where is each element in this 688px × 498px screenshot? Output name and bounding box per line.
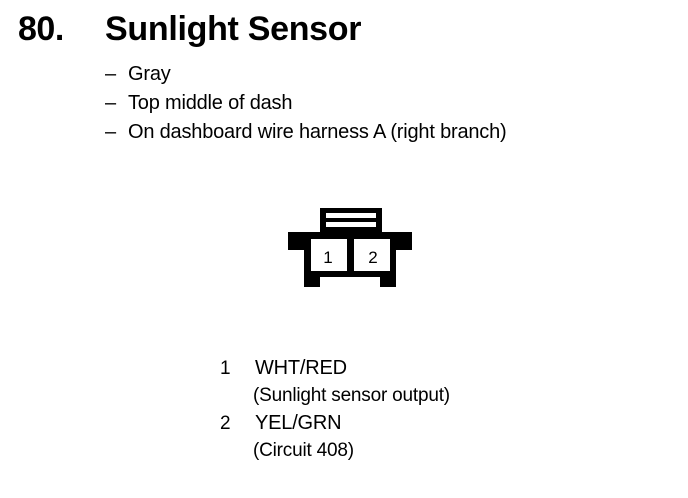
page-header: 80. Sunlight Sensor bbox=[0, 8, 688, 54]
legend-description: (Circuit 408) bbox=[253, 437, 673, 465]
pin-legend: 1 WHT/RED (Sunlight sensor output) 2 YEL… bbox=[220, 355, 640, 465]
legend-entry: 2 YEL/GRN (Circuit 408) bbox=[220, 410, 640, 465]
pin-number-2: 2 bbox=[368, 248, 377, 267]
page-title: Sunlight Sensor bbox=[105, 8, 361, 50]
dash-icon: – bbox=[105, 89, 116, 118]
dash-icon: – bbox=[105, 60, 116, 89]
locking-tab-shape bbox=[320, 208, 382, 234]
tab-slot-lower bbox=[326, 222, 376, 227]
list-item: – Top middle of dash bbox=[105, 89, 665, 118]
connector-outline-graphic: 1 2 bbox=[284, 203, 416, 301]
list-item-label: Top middle of dash bbox=[128, 89, 292, 118]
connector-body-shape bbox=[288, 232, 412, 287]
legend-pin-number: 2 bbox=[220, 410, 242, 437]
legend-entry: 1 WHT/RED (Sunlight sensor output) bbox=[220, 355, 640, 410]
tab-slot-upper bbox=[326, 213, 376, 218]
detail-list: – Gray – Top middle of dash – On dashboa… bbox=[105, 60, 665, 147]
list-item-label: On dashboard wire harness A (right branc… bbox=[128, 118, 506, 147]
connector-diagram: 1 2 bbox=[284, 203, 416, 301]
pin-number-1: 1 bbox=[323, 248, 332, 267]
list-item: – On dashboard wire harness A (right bra… bbox=[105, 118, 665, 147]
legend-pin-number: 1 bbox=[220, 355, 242, 382]
legend-description: (Sunlight sensor output) bbox=[253, 382, 673, 410]
section-number: 80. bbox=[18, 8, 64, 50]
legend-wire-color: WHT/RED bbox=[255, 355, 347, 382]
list-item-label: Gray bbox=[128, 60, 171, 89]
legend-main-row: 2 YEL/GRN bbox=[220, 410, 640, 437]
document-page: 80. Sunlight Sensor – Gray – Top middle … bbox=[0, 0, 688, 498]
legend-main-row: 1 WHT/RED bbox=[220, 355, 640, 382]
dash-icon: – bbox=[105, 118, 116, 147]
list-item: – Gray bbox=[105, 60, 665, 89]
legend-wire-color: YEL/GRN bbox=[255, 410, 341, 437]
